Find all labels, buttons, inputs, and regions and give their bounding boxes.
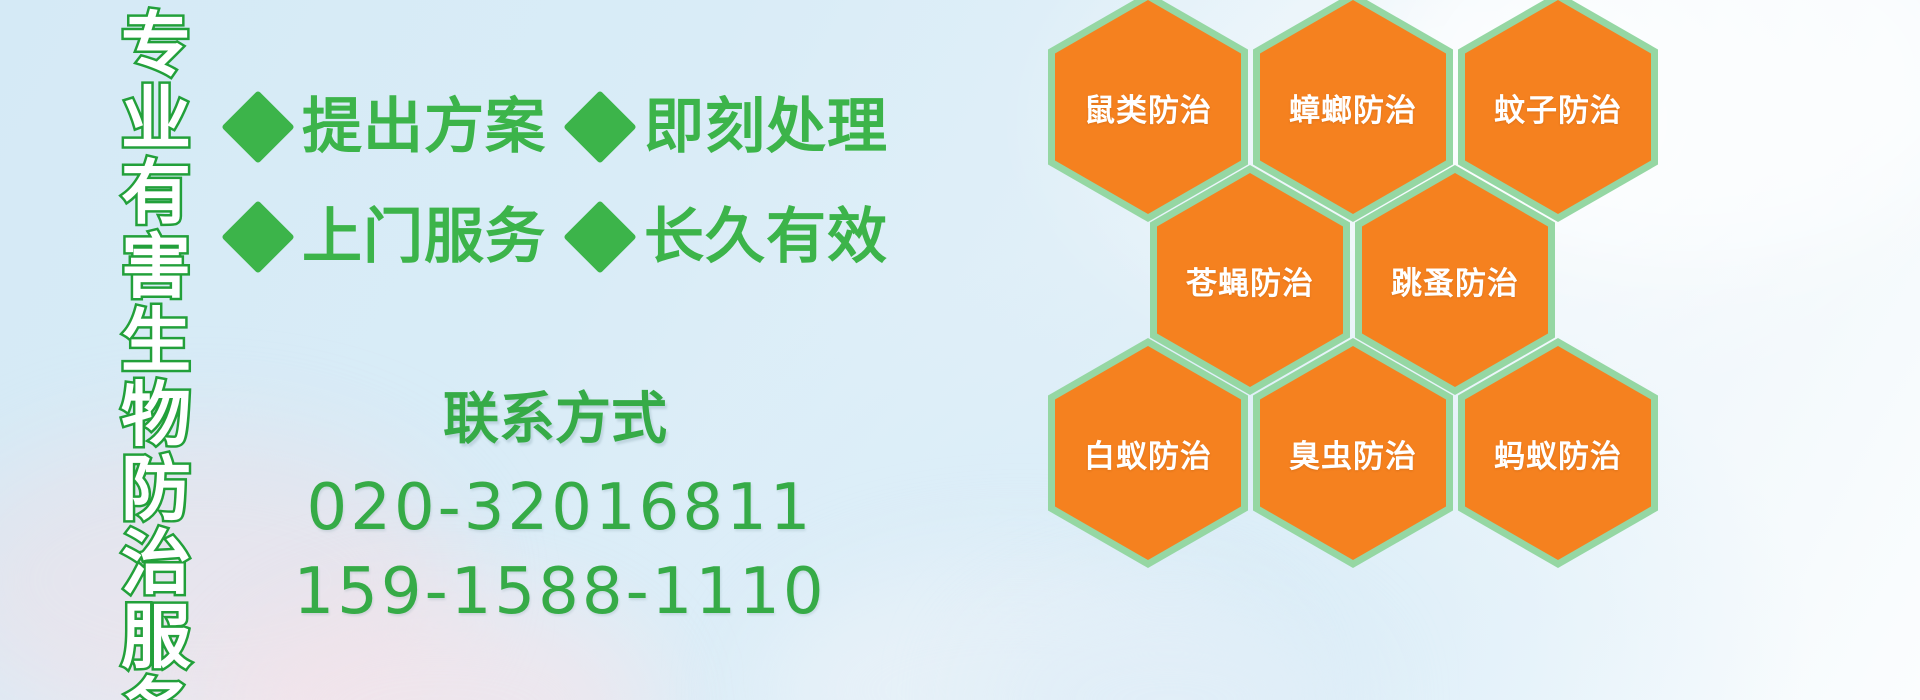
hex-inner: 蚊子防治 — [1465, 0, 1651, 214]
vertical-headline-char: 防 — [121, 452, 191, 526]
service-label: 臭虫防治 — [1289, 431, 1417, 476]
hex-inner: 白蚁防治 — [1055, 346, 1241, 560]
vertical-headline-char: 害 — [121, 230, 191, 304]
vertical-headline-char: 物 — [121, 378, 191, 452]
diamond-icon — [221, 200, 295, 274]
hex-inner: 鼠类防治 — [1055, 0, 1241, 214]
feature-label: 长久有效 — [644, 205, 888, 269]
vertical-headline-char: 服 — [121, 600, 191, 674]
feature-item: 即刻处理 — [574, 95, 888, 159]
diamond-icon — [563, 90, 637, 164]
service-label: 蟑螂防治 — [1289, 85, 1417, 130]
feature-item: 提出方案 — [232, 95, 546, 159]
contact-label: 联系方式 — [240, 386, 870, 454]
contact-block: 联系方式 020-32016811 159-1588-1110 — [250, 386, 870, 634]
feature-row: 上门服务 长久有效 — [232, 182, 872, 292]
pest-control-banner: 专 业 有 害 生 物 防 治 服 务 提出方案 即刻处理 上门服务 — [0, 0, 1920, 700]
hex-inner: 蚂蚁防治 — [1465, 346, 1651, 560]
vertical-headline-char: 生 — [121, 304, 191, 378]
vertical-headline-char: 治 — [121, 526, 191, 600]
feature-list: 提出方案 即刻处理 上门服务 长久有效 — [232, 72, 872, 292]
contact-phone-mobile[interactable]: 159-1588-1110 — [250, 550, 870, 634]
diamond-icon — [563, 200, 637, 274]
service-label: 蚊子防治 — [1494, 85, 1622, 130]
hex-inner: 苍蝇防治 — [1157, 173, 1343, 387]
service-hex-grid: 鼠类防治 蟑螂防治 蚊子防治 苍蝇防治 跳蚤防治 白蚁防治 — [1048, 0, 1748, 700]
hex-inner: 臭虫防治 — [1260, 346, 1446, 560]
feature-label: 上门服务 — [302, 205, 546, 269]
vertical-headline-char: 有 — [121, 156, 191, 230]
feature-label: 即刻处理 — [644, 95, 888, 159]
feature-item: 长久有效 — [574, 205, 888, 269]
service-label: 蚂蚁防治 — [1494, 431, 1622, 476]
vertical-headline-char: 业 — [121, 82, 191, 156]
vertical-headline: 专 业 有 害 生 物 防 治 服 务 — [108, 8, 204, 692]
vertical-headline-char: 专 — [121, 8, 191, 82]
feature-row: 提出方案 即刻处理 — [232, 72, 872, 182]
service-label: 鼠类防治 — [1084, 85, 1212, 130]
contact-phone-landline[interactable]: 020-32016811 — [250, 466, 870, 550]
diamond-icon — [221, 90, 295, 164]
service-label: 跳蚤防治 — [1391, 258, 1519, 303]
service-label: 白蚁防治 — [1084, 431, 1212, 476]
hex-inner: 跳蚤防治 — [1362, 173, 1548, 387]
vertical-headline-char: 务 — [121, 674, 191, 700]
feature-item: 上门服务 — [232, 205, 546, 269]
hex-inner: 蟑螂防治 — [1260, 0, 1446, 214]
feature-label: 提出方案 — [302, 95, 546, 159]
service-label: 苍蝇防治 — [1186, 258, 1314, 303]
